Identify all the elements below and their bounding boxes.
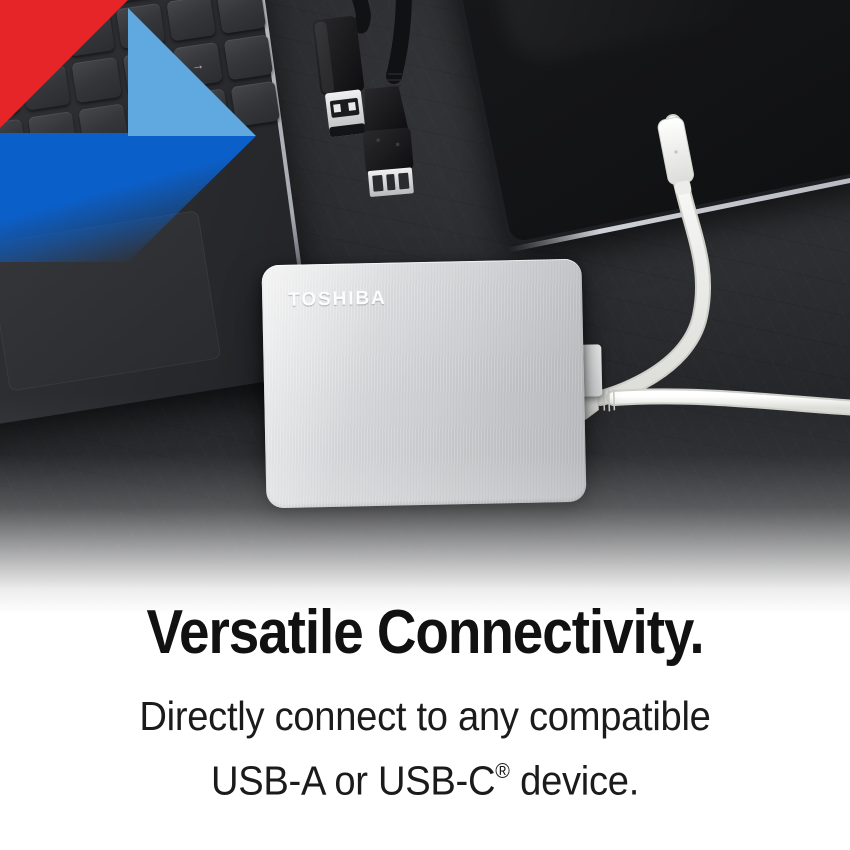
headline: Versatile Connectivity. (49, 600, 801, 666)
registered-trademark-icon: ® (495, 759, 510, 783)
caption-block: Versatile Connectivity. Directly connect… (0, 600, 850, 850)
toshiba-logo: TOSHIBA (288, 288, 387, 312)
tablet-screen-glare (487, 0, 850, 66)
photo-to-white-fade (0, 392, 850, 612)
dark-blue-chevron (0, 133, 256, 262)
body-line-1: Directly connect to any compatible (30, 689, 821, 744)
red-triangle (0, 0, 128, 128)
product-image-canvas: ↑ ↑ ↓ → (0, 0, 850, 850)
body-line-2: USB-A or USB-C® device. (30, 744, 821, 809)
light-blue-triangle (128, 8, 256, 136)
brand-corner-graphic (0, 0, 276, 320)
brand-chevron-svg (0, 0, 276, 320)
body-copy: Directly connect to any compatible USB-A… (0, 689, 850, 809)
body-line-2-text: USB-A or USB-C (211, 758, 495, 804)
body-line-2-tail: device. (510, 758, 639, 804)
